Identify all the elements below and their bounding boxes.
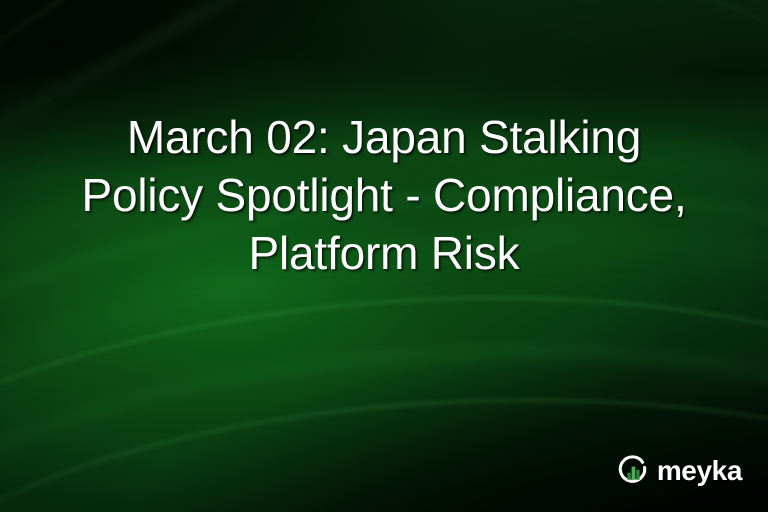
background-streak: [0, 379, 768, 512]
brand-wordmark: meyka: [657, 457, 742, 485]
brand-logo[interactable]: meyka: [616, 454, 742, 488]
banner-card: March 02: Japan Stalking Policy Spotligh…: [0, 0, 768, 512]
page-title: March 02: Japan Stalking Policy Spotligh…: [28, 108, 740, 282]
title-block: March 02: Japan Stalking Policy Spotligh…: [0, 108, 768, 282]
background-cross-beam: [0, 0, 445, 123]
meyka-bar-chart-ring-icon: [616, 454, 650, 488]
